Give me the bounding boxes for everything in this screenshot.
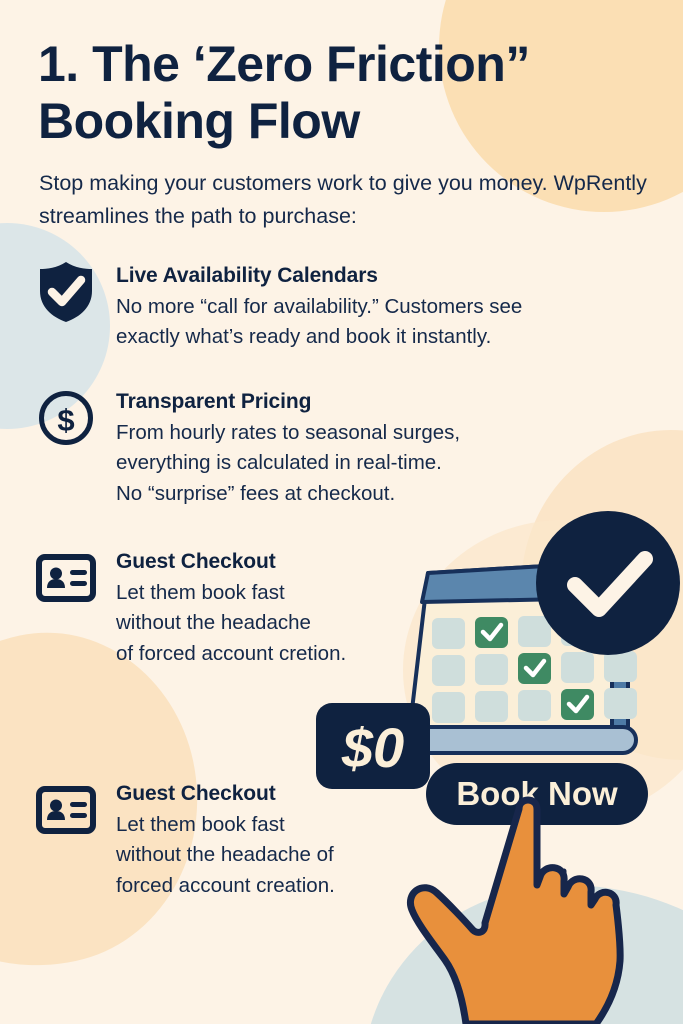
pointing-hand-icon: [410, 800, 620, 1024]
price-badge-label: $0: [0, 0, 1, 1]
feature-text-block: Transparent Pricing From hourly rates to…: [116, 388, 460, 509]
id-card-icon: [36, 780, 96, 840]
price-badge: $0: [316, 703, 430, 789]
page-subtitle: Stop making your customers work to give …: [39, 167, 664, 232]
feature-item-transparent-pricing: $ Transparent Pricing From hourly rates …: [36, 388, 666, 509]
svg-text:$0: $0: [341, 716, 404, 779]
id-card-icon: [36, 548, 96, 608]
booking-illustration: $0 Book Now: [300, 505, 683, 1024]
feature-title: Live Availability Calendars: [116, 264, 522, 288]
feature-body: From hourly rates to seasonal surges, ev…: [116, 418, 460, 509]
page-title: 1. The ‘Zero Friction” Booking Flow: [38, 36, 648, 149]
infographic-poster: 1. The ‘Zero Friction” Booking Flow Stop…: [0, 0, 683, 1024]
feature-body: No more “call for availability.” Custome…: [116, 292, 522, 353]
svg-text:$: $: [57, 403, 74, 438]
calendar-cell-checked: [475, 617, 508, 648]
shield-check-icon: [36, 262, 96, 322]
feature-text-block: Live Availability Calendars No more “cal…: [116, 262, 522, 353]
calendar-cell-checked: [518, 653, 551, 684]
check-badge: [536, 511, 680, 655]
calendar-cell-checked: [561, 689, 594, 720]
cta-button-label: Book Now: [0, 0, 1, 1]
dollar-circle-icon: $: [36, 388, 96, 448]
feature-item-live-availability-calendars: Live Availability Calendars No more “cal…: [36, 262, 666, 353]
feature-title: Transparent Pricing: [116, 390, 460, 414]
